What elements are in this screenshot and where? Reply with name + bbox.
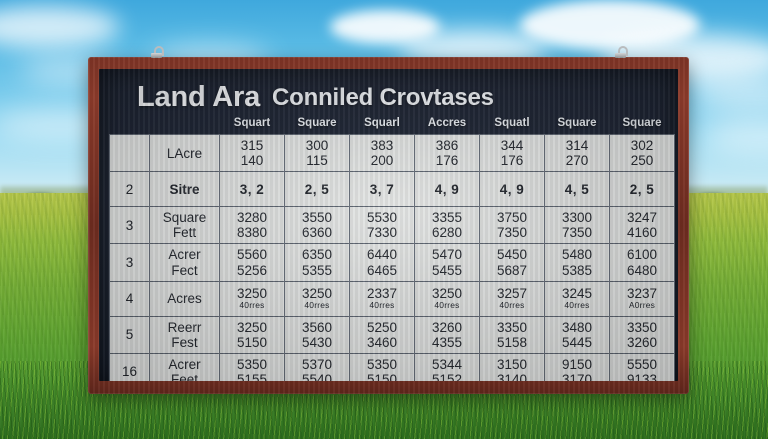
- table-cell: 55307330: [350, 207, 415, 244]
- cell-value-secondary: 140: [221, 153, 283, 168]
- row-label: AcrerFeet: [150, 353, 220, 381]
- cell-value-secondary: 3140: [481, 372, 543, 381]
- cell-value-primary: 302: [611, 138, 673, 153]
- cell-value-secondary: 5445: [546, 335, 608, 350]
- cell-value-primary: 5250: [351, 320, 413, 335]
- cell-value-primary: 3350: [611, 320, 673, 335]
- table-cell: 35605430: [285, 316, 350, 353]
- cell-value-secondary: A0rres: [611, 301, 673, 311]
- conversion-table-wrapper: SquartSquareSquarlAccresSquatlSquareSqua…: [109, 114, 668, 381]
- row-label-line: Fect: [151, 263, 218, 278]
- table-header-cell-0: [110, 114, 150, 135]
- table-header-row: SquartSquareSquarlAccresSquatlSquareSqua…: [110, 114, 675, 135]
- table-header-cell-6: Squatl: [480, 114, 545, 135]
- cell-value-secondary: 5155: [221, 372, 283, 381]
- cell-value-primary: 5550: [611, 357, 673, 372]
- row-label: Sitre: [150, 172, 220, 207]
- conversion-table: SquartSquareSquarlAccresSquatlSquareSqua…: [109, 114, 675, 381]
- cell-value-primary: 4, 9: [481, 182, 543, 197]
- cell-value-primary: 5370: [286, 357, 348, 372]
- cell-value-primary: 3245: [546, 286, 608, 301]
- table-cell: 54805385: [545, 244, 610, 281]
- cell-value-primary: 3260: [416, 320, 478, 335]
- cell-value-primary: 3280: [221, 210, 283, 225]
- table-body: LAcre31514030011538320038617634417631427…: [110, 135, 675, 382]
- table-cell: 33007350: [545, 207, 610, 244]
- row-label-line: Square: [151, 210, 218, 225]
- cell-value-primary: 3237: [611, 286, 673, 301]
- cell-value-primary: 3250: [221, 320, 283, 335]
- table-cell: 34805445: [545, 316, 610, 353]
- hanging-hook-right-icon: [614, 46, 627, 59]
- row-number: 16: [110, 353, 150, 381]
- row-number: 2: [110, 172, 150, 207]
- row-label-line: LAcre: [151, 146, 218, 161]
- table-header-cell-3: Square: [285, 114, 350, 135]
- table-cell: 4, 9: [415, 172, 480, 207]
- row-label-line: Acrer: [151, 357, 218, 372]
- cell-value-secondary: 5150: [221, 335, 283, 350]
- table-cell: 61006480: [610, 244, 675, 281]
- cell-value-secondary: 6465: [351, 263, 413, 278]
- cell-value-secondary: 5158: [481, 335, 543, 350]
- table-row[interactable]: 5ReerrFest325051503560543052503460326043…: [110, 316, 675, 353]
- row-label-line: Fett: [151, 225, 218, 240]
- cell-value-secondary: 7330: [351, 225, 413, 240]
- cell-value-primary: 3257: [481, 286, 543, 301]
- table-cell: 3, 7: [350, 172, 415, 207]
- cell-value-primary: 386: [416, 138, 478, 153]
- cell-value-primary: 3350: [481, 320, 543, 335]
- cell-value-primary: 315: [221, 138, 283, 153]
- row-label-line: Sitre: [151, 182, 218, 197]
- row-label-line: Fest: [151, 335, 218, 350]
- row-label: LAcre: [150, 135, 220, 172]
- table-header-cell-1: [150, 114, 220, 135]
- cell-value-secondary: 5150: [351, 372, 413, 381]
- row-label-line: Feet: [151, 372, 218, 381]
- cell-value-secondary: 5540: [286, 372, 348, 381]
- cell-value-primary: 2, 5: [611, 182, 673, 197]
- table-cell: 33503260: [610, 316, 675, 353]
- table-cell: 31503140: [480, 353, 545, 381]
- table-cell: 35506360: [285, 207, 350, 244]
- hanging-hook-left-icon: [150, 46, 163, 59]
- cell-value-primary: 2, 5: [286, 182, 348, 197]
- table-cell: 53705540: [285, 353, 350, 381]
- table-cell: 325740rres: [480, 281, 545, 316]
- row-number: [110, 135, 150, 172]
- cell-value-secondary: 5355: [286, 263, 348, 278]
- cell-value-secondary: 176: [416, 153, 478, 168]
- cell-value-primary: 3250: [416, 286, 478, 301]
- sign-board-frame: Land Ara Conniled Crovtases SquartSquare…: [88, 57, 689, 394]
- cell-value-secondary: 5385: [546, 263, 608, 278]
- row-label: ReerrFest: [150, 316, 220, 353]
- table-cell: 4, 9: [480, 172, 545, 207]
- cell-value-primary: 3, 7: [351, 182, 413, 197]
- table-cell: 314270: [545, 135, 610, 172]
- cell-value-secondary: 6360: [286, 225, 348, 240]
- cell-value-primary: 3355: [416, 210, 478, 225]
- cell-value-secondary: 40rres: [221, 301, 283, 311]
- cell-value-primary: 3550: [286, 210, 348, 225]
- row-label-line: Acrer: [151, 247, 218, 262]
- cell-value-secondary: 250: [611, 153, 673, 168]
- table-cell: 233740rres: [350, 281, 415, 316]
- table-cell: 52503460: [350, 316, 415, 353]
- table-cell: 3, 2: [220, 172, 285, 207]
- cell-value-primary: 300: [286, 138, 348, 153]
- cell-value-primary: 5480: [546, 247, 608, 262]
- cell-value-primary: 4, 9: [416, 182, 478, 197]
- table-cell: 55605256: [220, 244, 285, 281]
- cell-value-primary: 5530: [351, 210, 413, 225]
- table-cell: 53505155: [220, 353, 285, 381]
- table-cell: 53505150: [350, 353, 415, 381]
- table-cell: 64406465: [350, 244, 415, 281]
- table-header-cell-2: Squart: [220, 114, 285, 135]
- table-cell: 55509133: [610, 353, 675, 381]
- table-row[interactable]: 3SquareFett32808380355063605530733033556…: [110, 207, 675, 244]
- row-label: SquareFett: [150, 207, 220, 244]
- table-header-cell-7: Square: [545, 114, 610, 135]
- table-header: SquartSquareSquarlAccresSquatlSquareSqua…: [110, 114, 675, 135]
- table-cell: 383200: [350, 135, 415, 172]
- cell-value-primary: 6350: [286, 247, 348, 262]
- cell-value-primary: 2337: [351, 286, 413, 301]
- cell-value-secondary: 5687: [481, 263, 543, 278]
- table-cell: 302250: [610, 135, 675, 172]
- cell-value-secondary: 5455: [416, 263, 478, 278]
- table-cell: 386176: [415, 135, 480, 172]
- table-cell: 33505158: [480, 316, 545, 353]
- cell-value-secondary: 40rres: [546, 301, 608, 311]
- cell-value-primary: 3250: [221, 286, 283, 301]
- table-header-cell-4: Squarl: [350, 114, 415, 135]
- table-cell: 53445152: [415, 353, 480, 381]
- cell-value-primary: 3480: [546, 320, 608, 335]
- table-cell: 300115: [285, 135, 350, 172]
- table-cell: 315140: [220, 135, 285, 172]
- row-label-line: Reerr: [151, 320, 218, 335]
- table-header-cell-8: Square: [610, 114, 675, 135]
- table-cell: 325040rres: [415, 281, 480, 316]
- cell-value-primary: 5350: [221, 357, 283, 372]
- table-cell: 32505150: [220, 316, 285, 353]
- cell-value-secondary: 5256: [221, 263, 283, 278]
- cell-value-secondary: 40rres: [416, 301, 478, 311]
- table-cell: 3237A0rres: [610, 281, 675, 316]
- table-cell: 32604355: [415, 316, 480, 353]
- table-row[interactable]: 3AcrerFect556052566350535564406465547054…: [110, 244, 675, 281]
- cell-value-secondary: 3260: [611, 335, 673, 350]
- table-row[interactable]: 16AcrerFeet53505155537055405350515053445…: [110, 353, 675, 381]
- cell-value-primary: 3750: [481, 210, 543, 225]
- cell-value-secondary: 7350: [481, 225, 543, 240]
- cell-value-primary: 3, 2: [221, 182, 283, 197]
- cell-value-secondary: 40rres: [481, 301, 543, 311]
- cell-value-primary: 314: [546, 138, 608, 153]
- cell-value-secondary: 40rres: [286, 301, 348, 311]
- cell-value-primary: 3247: [611, 210, 673, 225]
- cell-value-secondary: 4160: [611, 225, 673, 240]
- cell-value-primary: 5350: [351, 357, 413, 372]
- cell-value-primary: 3300: [546, 210, 608, 225]
- row-label: AcrerFect: [150, 244, 220, 281]
- table-cell: 91503170: [545, 353, 610, 381]
- cell-value-primary: 3560: [286, 320, 348, 335]
- table-row[interactable]: LAcre31514030011538320038617634417631427…: [110, 135, 675, 172]
- cell-value-secondary: 5430: [286, 335, 348, 350]
- table-cell: 32808380: [220, 207, 285, 244]
- cell-value-primary: 3250: [286, 286, 348, 301]
- cell-value-secondary: 40rres: [351, 301, 413, 311]
- row-label-line: Acres: [151, 291, 218, 306]
- table-cell: 2, 5: [610, 172, 675, 207]
- cell-value-primary: 344: [481, 138, 543, 153]
- table-cell: 325040rres: [220, 281, 285, 316]
- table-cell: 54505687: [480, 244, 545, 281]
- cell-value-primary: 6100: [611, 247, 673, 262]
- table-cell: 324540rres: [545, 281, 610, 316]
- cell-value-secondary: 3170: [546, 372, 608, 381]
- table-cell: 344176: [480, 135, 545, 172]
- title-main-text: Land Ara: [137, 81, 260, 114]
- cell-value-secondary: 176: [481, 153, 543, 168]
- cell-value-secondary: 8380: [221, 225, 283, 240]
- table-cell: 4, 5: [545, 172, 610, 207]
- row-number: 4: [110, 281, 150, 316]
- cell-value-secondary: 115: [286, 153, 348, 168]
- cell-value-primary: 5470: [416, 247, 478, 262]
- table-cell: 63505355: [285, 244, 350, 281]
- cell-value-primary: 5450: [481, 247, 543, 262]
- table-row[interactable]: 4Acres325040rres325040rres233740rres3250…: [110, 281, 675, 316]
- table-cell: 54705455: [415, 244, 480, 281]
- cell-value-primary: 5560: [221, 247, 283, 262]
- row-number: 5: [110, 316, 150, 353]
- cell-value-secondary: 5152: [416, 372, 478, 381]
- cell-value-secondary: 7350: [546, 225, 608, 240]
- cell-value-primary: 4, 5: [546, 182, 608, 197]
- cell-value-primary: 5344: [416, 357, 478, 372]
- table-cell: 37507350: [480, 207, 545, 244]
- cell-value-secondary: 270: [546, 153, 608, 168]
- cell-value-secondary: 200: [351, 153, 413, 168]
- cell-value-secondary: 3460: [351, 335, 413, 350]
- table-cell: 32474160: [610, 207, 675, 244]
- row-label: Acres: [150, 281, 220, 316]
- cell-value-primary: 6440: [351, 247, 413, 262]
- cell-value-secondary: 6480: [611, 263, 673, 278]
- cell-value-secondary: 6280: [416, 225, 478, 240]
- title-sub-text: Conniled Crovtases: [272, 84, 494, 112]
- cell-value-primary: 3150: [481, 357, 543, 372]
- cell-value-primary: 9150: [546, 357, 608, 372]
- cell-value-primary: 383: [351, 138, 413, 153]
- cell-value-secondary: 4355: [416, 335, 478, 350]
- sign-board-panel: Land Ara Conniled Crovtases SquartSquare…: [99, 69, 678, 381]
- table-cell: 325040rres: [285, 281, 350, 316]
- table-row[interactable]: 2Sitre3, 22, 53, 74, 94, 94, 52, 5: [110, 172, 675, 207]
- cell-value-secondary: 9133: [611, 372, 673, 381]
- table-cell: 33556280: [415, 207, 480, 244]
- table-header-cell-5: Accres: [415, 114, 480, 135]
- table-cell: 2, 5: [285, 172, 350, 207]
- row-number: 3: [110, 207, 150, 244]
- sign-title: Land Ara Conniled Crovtases: [109, 81, 668, 114]
- row-number: 3: [110, 244, 150, 281]
